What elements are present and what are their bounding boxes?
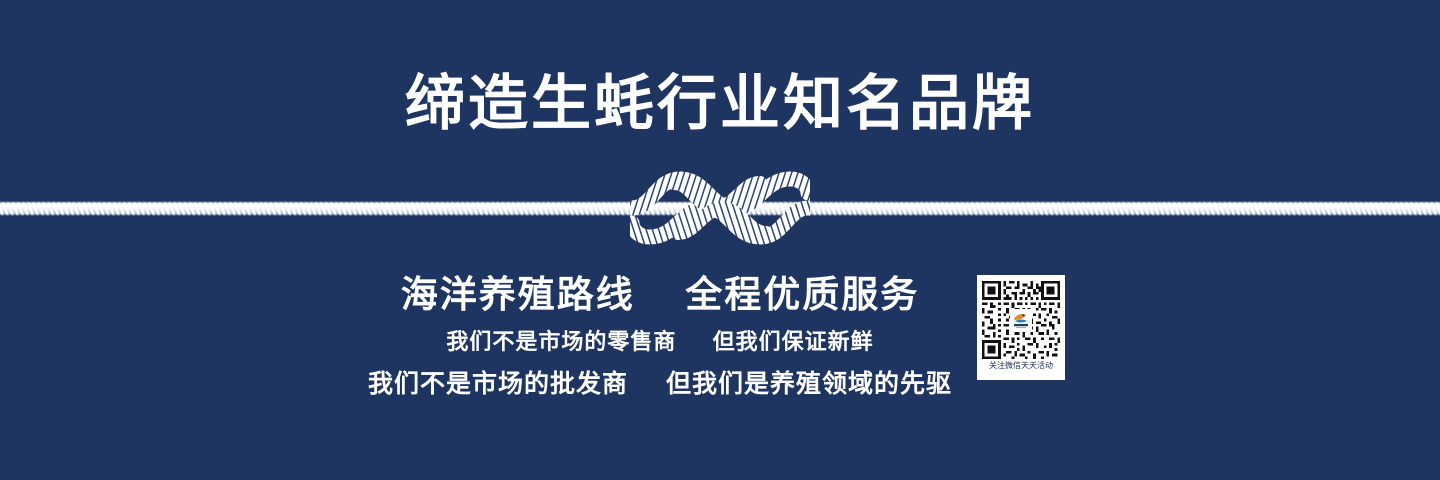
promo-banner: 缔造生蚝行业知名品牌: [0, 0, 1440, 480]
qr-code-icon[interactable]: [982, 281, 1060, 359]
claim-1-right: 但我们保证新鲜: [713, 329, 874, 354]
brand-logo-icon: [1010, 309, 1032, 331]
claim-2-left: 我们不是市场的批发商: [368, 370, 628, 398]
rope-divider: [0, 163, 1440, 253]
subheadline-left: 海洋养殖路线: [401, 274, 635, 315]
qr-caption: 关注微信天天活动: [989, 361, 1053, 371]
banner-headline: 缔造生蚝行业知名品牌: [0, 70, 1440, 137]
claim-line-2: 我们不是市场的批发商 但我们是养殖领域的先驱: [0, 364, 1320, 400]
banner-subheadline: 海洋养殖路线 全程优质服务: [0, 264, 1320, 318]
claim-line-1: 我们不是市场的零售商 但我们保证新鲜: [0, 324, 1320, 356]
rope-knot-icon: [630, 163, 810, 253]
claim-2-right: 但我们是养殖领域的先驱: [666, 370, 952, 398]
qr-card[interactable]: 关注微信天天活动: [977, 275, 1065, 380]
subheadline-right: 全程优质服务: [685, 274, 919, 315]
claim-1-left: 我们不是市场的零售商: [446, 329, 676, 354]
